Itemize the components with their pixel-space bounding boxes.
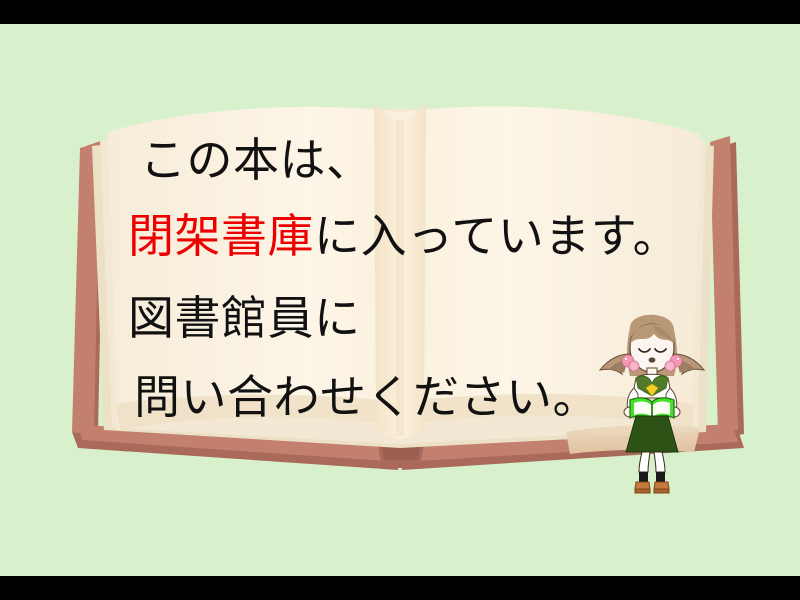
girl-reading-book-illustration bbox=[592, 300, 712, 495]
book-pages-left bbox=[92, 107, 400, 448]
character-mouth bbox=[649, 357, 656, 362]
character-legs bbox=[639, 452, 665, 482]
screenshot-canvas: この本は、 閉架書庫に入っています。 図書館員に 問い合わせください。 bbox=[0, 0, 800, 600]
character-shoes bbox=[635, 482, 669, 493]
character-skirt bbox=[626, 416, 678, 452]
letterbox-bar-bottom bbox=[0, 576, 800, 600]
letterbox-bar-top bbox=[0, 0, 800, 24]
book-gutter bbox=[374, 104, 426, 440]
